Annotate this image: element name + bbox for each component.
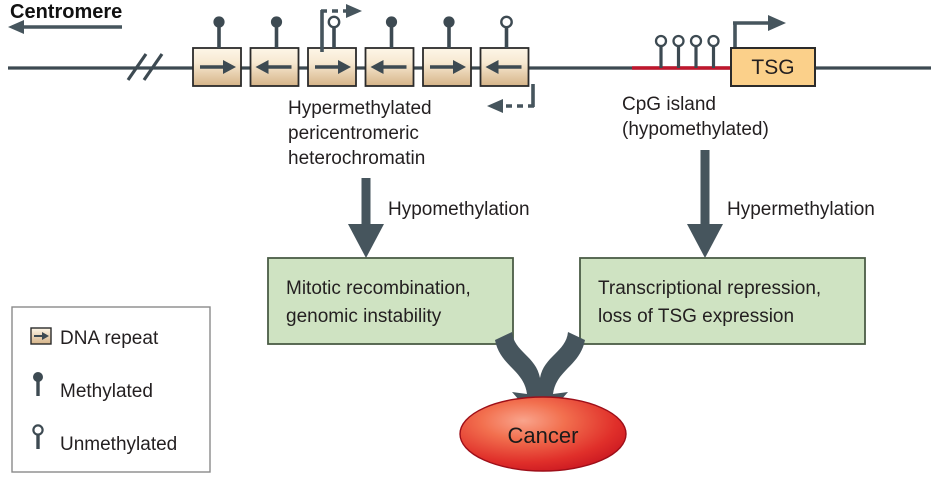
dna-repeat-icon bbox=[31, 328, 51, 344]
repeat-2 bbox=[251, 48, 299, 86]
cpg-unmethylated-lollipop bbox=[691, 36, 701, 68]
methylated-lollipop bbox=[386, 16, 397, 48]
centromere-label: Centromere bbox=[10, 1, 122, 23]
dna-repeat-array bbox=[193, 16, 529, 86]
methylated-lollipop bbox=[213, 16, 224, 48]
cancer-outcome-ellipse: Cancer bbox=[460, 397, 626, 471]
svg-text:DNA repeat: DNA repeat bbox=[60, 328, 159, 349]
svg-text:Transcriptional repression,: Transcriptional repression, bbox=[598, 278, 821, 299]
cpg-unmethylated-lollipop bbox=[656, 36, 666, 68]
heterochromatin-label: Hypermethylated pericentromeric heteroch… bbox=[288, 98, 432, 169]
cpg-island-label: CpG island (hypomethylated) bbox=[622, 94, 769, 140]
unmethylated-lollipop bbox=[501, 17, 511, 48]
right-outcome-box: Transcriptional repression, loss of TSG … bbox=[580, 258, 865, 344]
epigenetics-cancer-diagram: TSG Hypermethylated pericentromeric hete… bbox=[0, 0, 939, 483]
svg-text:Mitotic recombination,: Mitotic recombination, bbox=[286, 278, 471, 299]
svg-text:genomic instability: genomic instability bbox=[286, 306, 442, 327]
svg-text:pericentromeric: pericentromeric bbox=[288, 123, 419, 144]
repeat-4 bbox=[366, 48, 414, 86]
svg-text:Unmethylated: Unmethylated bbox=[60, 434, 177, 455]
cancer-label: Cancer bbox=[508, 423, 579, 448]
repeat-transcript-forward-arrow bbox=[321, 4, 362, 52]
repeat-transcript-reverse-arrow bbox=[487, 84, 534, 113]
svg-text:Methylated: Methylated bbox=[60, 381, 153, 402]
unmethylated-lollipop bbox=[329, 17, 339, 48]
hypomethylation-label: Hypomethylation bbox=[388, 199, 530, 220]
hypomethylation-arrow bbox=[348, 178, 384, 258]
left-outcome-box: Mitotic recombination, genomic instabili… bbox=[268, 258, 513, 344]
cpg-unmethylated-lollipop bbox=[709, 36, 719, 68]
repeat-1 bbox=[193, 48, 241, 86]
cpg-island-lollipops bbox=[656, 36, 719, 68]
methylated-lollipop bbox=[443, 16, 454, 48]
repeat-6 bbox=[481, 48, 529, 86]
svg-text:loss of TSG expression: loss of TSG expression bbox=[598, 306, 794, 327]
methylated-lollipop bbox=[271, 16, 282, 48]
svg-text:(hypomethylated): (hypomethylated) bbox=[622, 119, 769, 140]
hypermethylation-arrow bbox=[687, 150, 723, 258]
repeat-5 bbox=[423, 48, 471, 86]
tsg-gene-label: TSG bbox=[751, 56, 794, 79]
svg-text:Hypermethylated: Hypermethylated bbox=[288, 98, 432, 119]
svg-text:heterochromatin: heterochromatin bbox=[288, 148, 425, 169]
cpg-unmethylated-lollipop bbox=[674, 36, 684, 68]
figure-canvas: TSG Hypermethylated pericentromeric hete… bbox=[0, 0, 939, 483]
repeat-3 bbox=[308, 48, 356, 86]
tsg-gene-box: TSG bbox=[731, 48, 815, 86]
legend-box: DNA repeat Methylated Unmethylated bbox=[12, 307, 210, 472]
svg-text:CpG island: CpG island bbox=[622, 94, 716, 115]
hypermethylation-label: Hypermethylation bbox=[727, 199, 875, 220]
